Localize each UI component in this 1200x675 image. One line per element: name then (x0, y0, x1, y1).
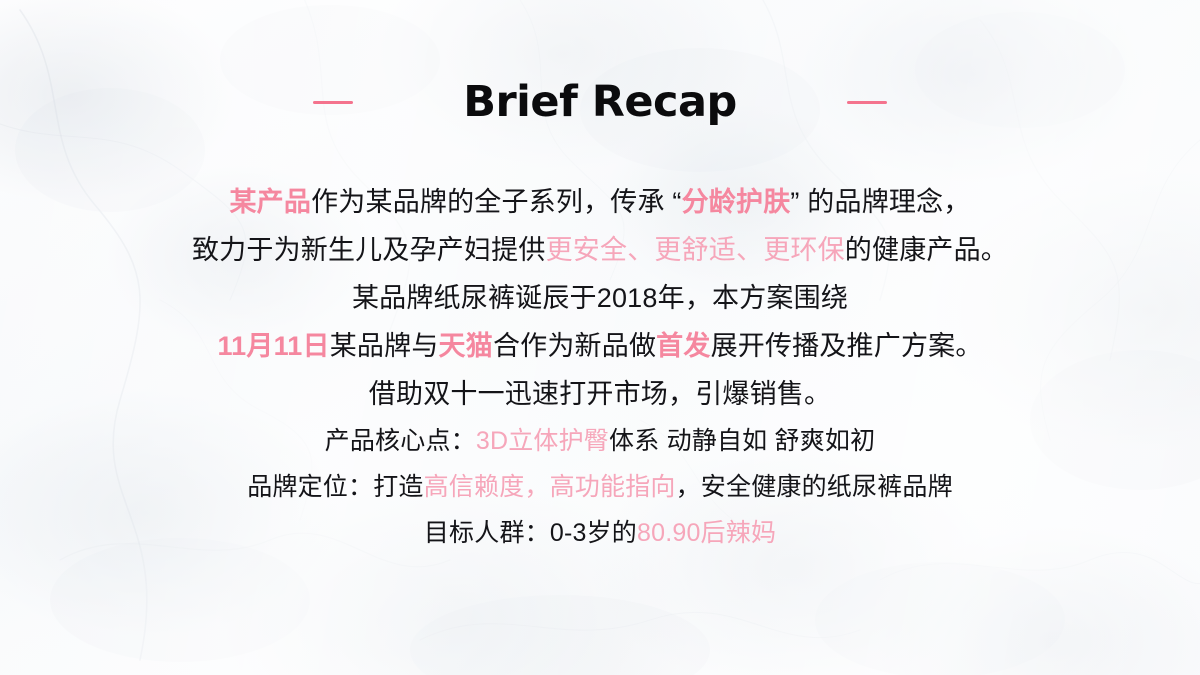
recap-line-7-segment-1: 品牌定位：打造 (247, 473, 423, 501)
recap-line-4-segment-2: 某品牌与 (330, 331, 439, 361)
title-dash-left-icon (313, 101, 353, 104)
recap-line-7: 品牌定位：打造高信赖度，高功能指向，安全健康的纸尿裤品牌 (0, 464, 1200, 510)
recap-line-6-segment-3: 体系 动静自如 舒爽如初 (609, 427, 875, 455)
recap-line-8: 目标人群：0-3岁的80.90后辣妈 (0, 510, 1200, 556)
recap-line-1: 某产品作为某品牌的全子系列，传承 “分龄护肤” 的品牌理念， (0, 178, 1200, 226)
recap-line-4-segment-5: 首发 (656, 331, 710, 361)
recap-line-7-segment-2: 高信赖度，高功能指向 (424, 473, 676, 501)
recap-line-4: 11月11日某品牌与天猫合作为新品做首发展开传播及推广方案。 (0, 322, 1200, 370)
recap-line-1-segment-3: 分龄护肤 (682, 187, 791, 217)
recap-line-4-segment-6: 展开传播及推广方案。 (711, 331, 983, 361)
recap-line-5-segment-1: 借助双十一迅速打开市场，引爆销售。 (369, 379, 831, 409)
recap-line-3-segment-1: 某品牌纸尿裤诞辰于2018年，本方案围绕 (352, 283, 848, 313)
title-row: Brief Recap (0, 52, 1200, 153)
recap-line-4-segment-4: 合作为新品做 (493, 331, 656, 361)
recap-line-5: 借助双十一迅速打开市场，引爆销售。 (0, 370, 1200, 418)
recap-line-4-segment-1: 11月11日 (217, 331, 329, 361)
recap-line-2: 致力于为新生儿及孕产妇提供更安全、更舒适、更环保的健康产品。 (0, 226, 1200, 274)
recap-line-7-segment-3: ，安全健康的纸尿裤品牌 (676, 473, 953, 501)
slide-canvas: Brief Recap 某产品作为某品牌的全子系列，传承 “分龄护肤” 的品牌理… (0, 0, 1200, 675)
recap-line-3: 某品牌纸尿裤诞辰于2018年，本方案围绕 (0, 274, 1200, 322)
recap-line-1-segment-1: 某产品 (229, 187, 311, 217)
recap-body: 某产品作为某品牌的全子系列，传承 “分龄护肤” 的品牌理念，致力于为新生儿及孕产… (0, 178, 1200, 556)
recap-line-2-segment-2: 更安全、更舒适、更环保 (546, 235, 845, 265)
recap-line-6-segment-1: 产品核心点： (325, 427, 476, 455)
recap-line-4-segment-3: 天猫 (439, 331, 493, 361)
recap-line-2-segment-1: 致力于为新生儿及孕产妇提供 (192, 235, 546, 265)
recap-line-1-segment-2: 作为某品牌的全子系列，传承 “ (311, 187, 682, 217)
page-title: Brief Recap (463, 81, 737, 124)
title-dash-right-icon (847, 101, 887, 104)
recap-line-2-segment-3: 的健康产品。 (845, 235, 1008, 265)
recap-line-6-segment-2: 3D立体护臀 (476, 427, 609, 455)
recap-line-1-segment-4: ” 的品牌理念， (790, 187, 970, 217)
recap-line-8-segment-1: 目标人群：0-3岁的 (424, 519, 637, 547)
recap-line-8-segment-2: 80.90后辣妈 (637, 519, 776, 547)
recap-line-6: 产品核心点：3D立体护臀体系 动静自如 舒爽如初 (0, 418, 1200, 464)
